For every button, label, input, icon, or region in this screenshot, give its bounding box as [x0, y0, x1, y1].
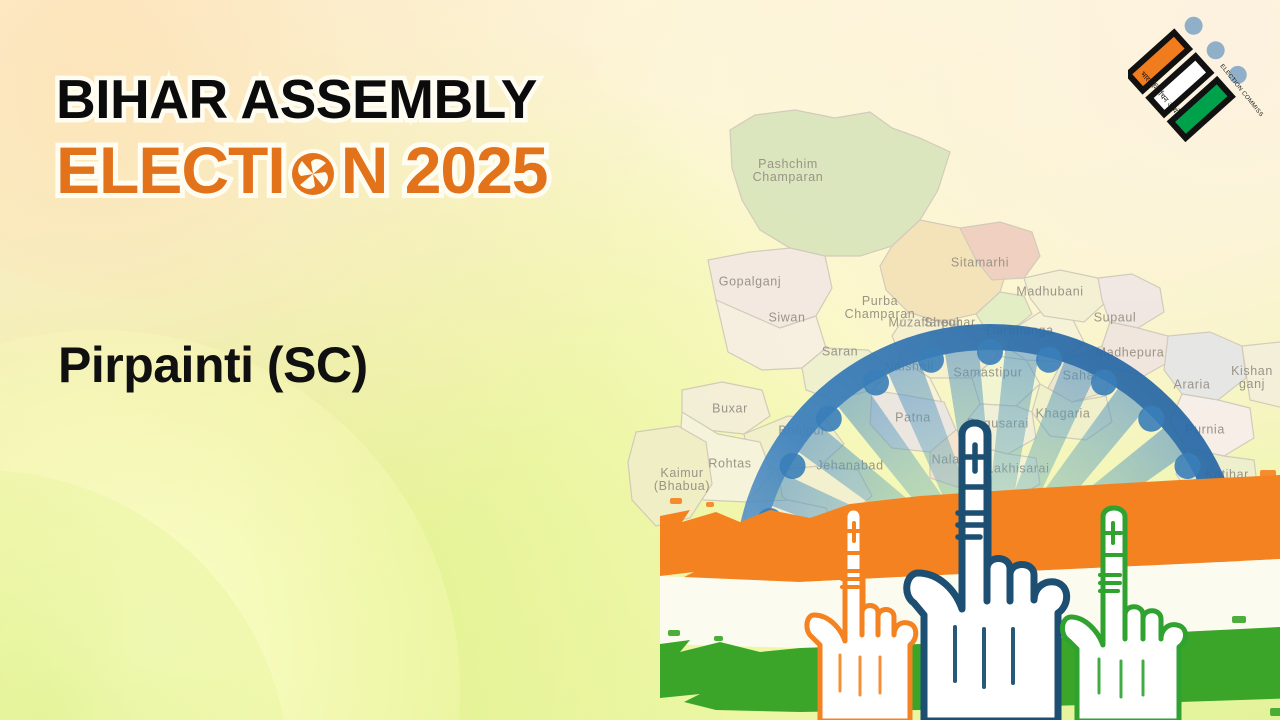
subtitle-election-year: ELECTI N 2025	[56, 137, 716, 203]
ballot-x-mark-icon	[287, 144, 339, 196]
hand-right-green	[1055, 495, 1200, 720]
subtitle-part-before: ELECTI	[56, 137, 285, 203]
subtitle-part-after: N 2025	[341, 137, 548, 203]
constituency-name: Pirpainti (SC)	[58, 340, 368, 390]
background-blob-bottom	[0, 470, 290, 720]
headline-block: BIHAR ASSEMBLY ELECTI N 2025	[56, 72, 716, 203]
page-title: BIHAR ASSEMBLY	[56, 72, 716, 127]
election-banner: Pashchim ChamparanPurba ChamparanGopalga…	[0, 0, 1280, 720]
election-commission-of-india-logo: भारत निर्वाचन आयोग ELECTION COMMISSION O…	[1128, 12, 1268, 142]
